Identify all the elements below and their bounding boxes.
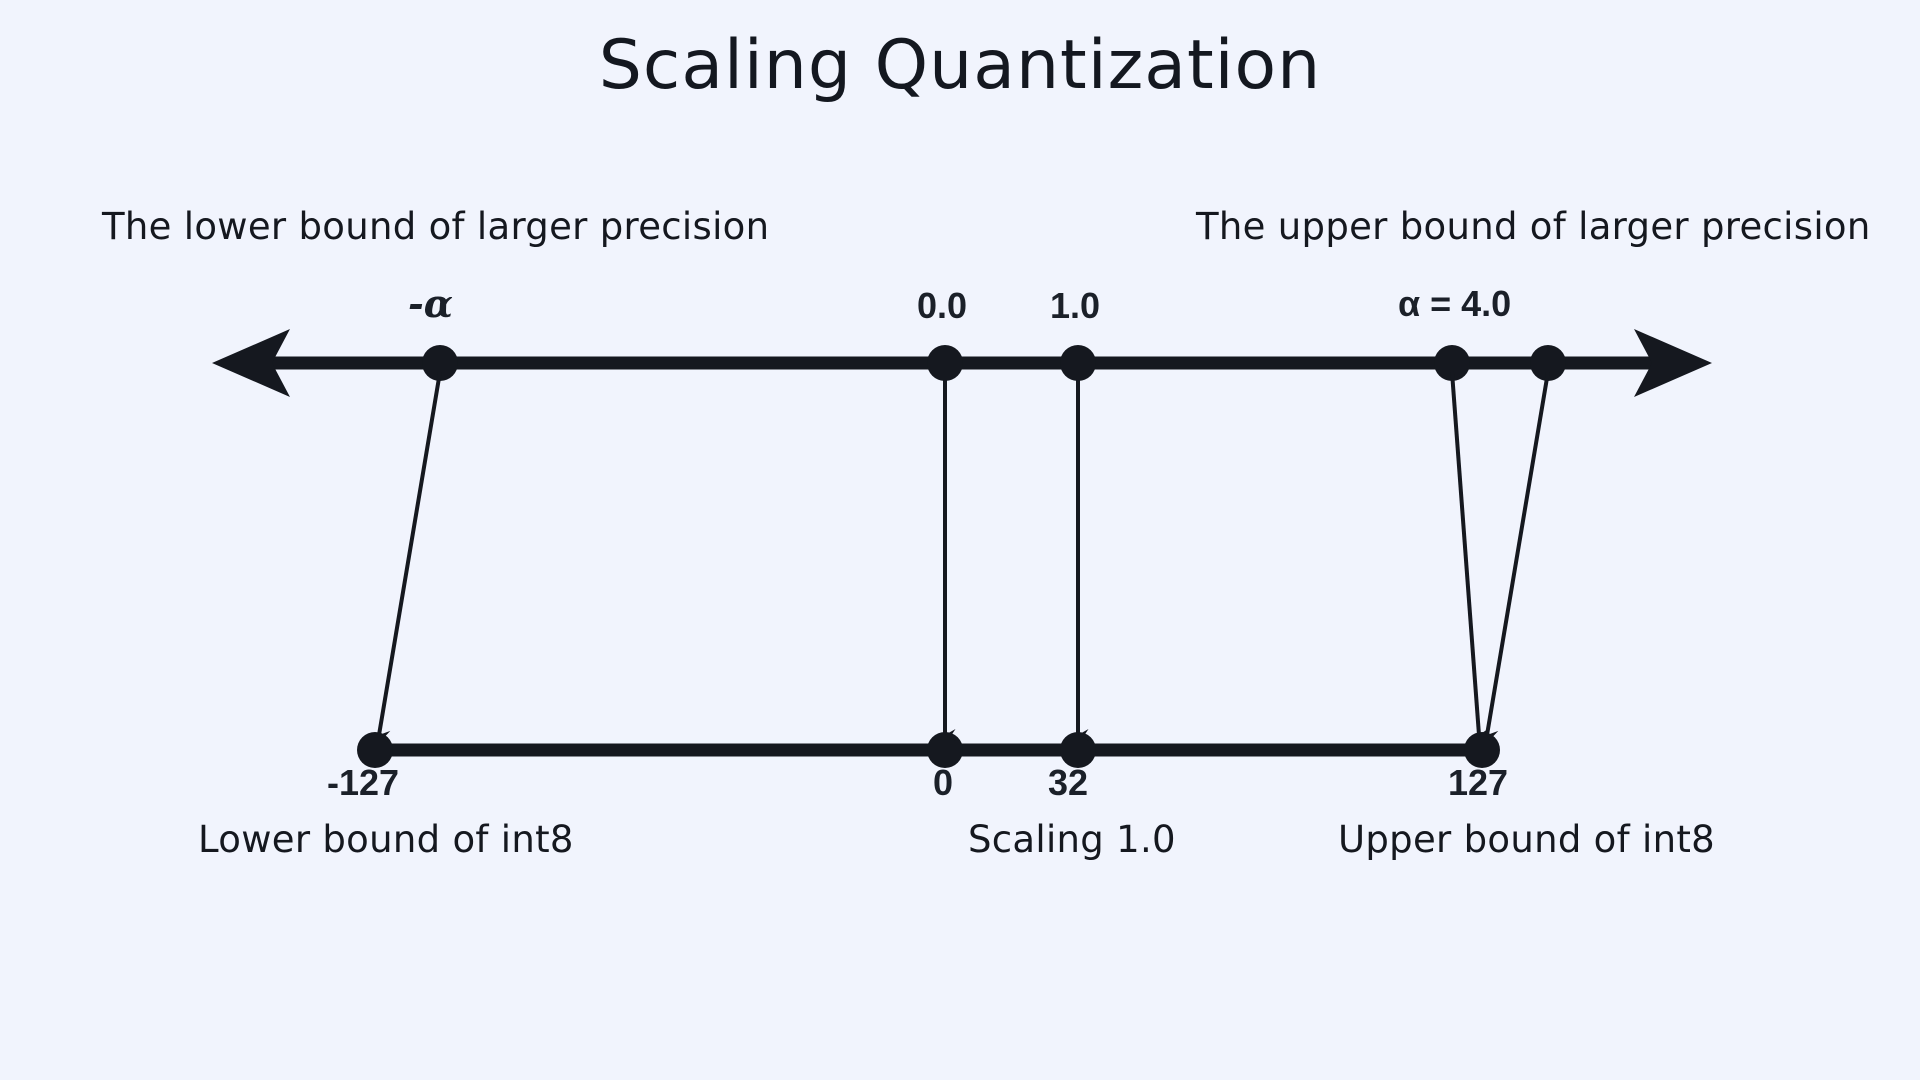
int8-number-line [357, 732, 1500, 768]
diagram-canvas: Scaling Quantization The lower bound of … [0, 0, 1920, 1080]
connector-neg-alpha-to-min [379, 372, 440, 735]
int8-point-thirtytwo [1060, 732, 1096, 768]
int8-point-zero [927, 732, 963, 768]
connector-beyond-alpha-to-max [1487, 372, 1548, 735]
connector-alpha-to-max [1452, 372, 1479, 735]
int8-point-min [357, 732, 393, 768]
number-line-diagram [0, 0, 1920, 1080]
int8-point-max [1464, 732, 1500, 768]
mapping-connectors [379, 372, 1548, 735]
